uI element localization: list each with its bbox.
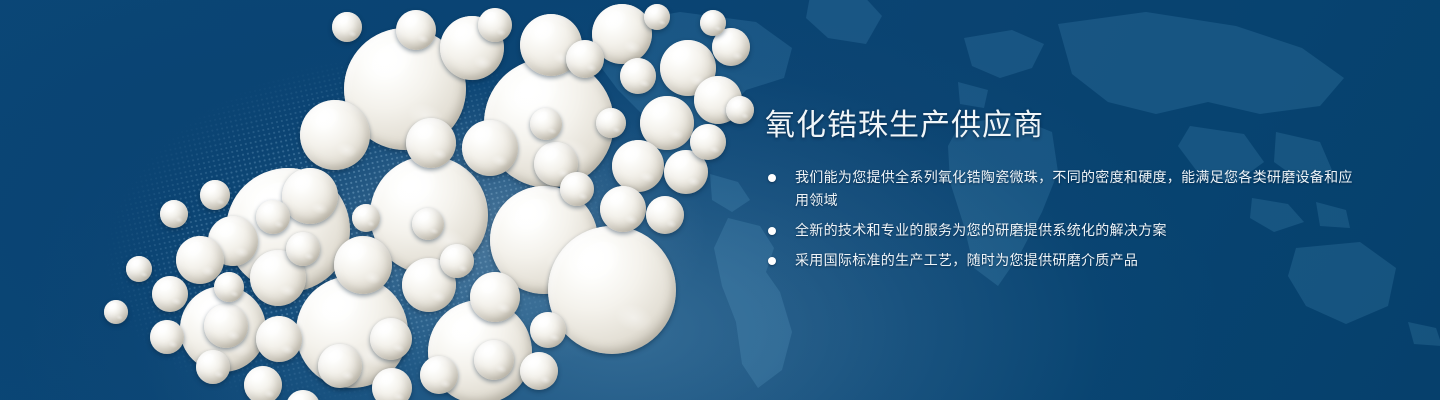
bullet-dot-icon [768, 257, 776, 265]
bullet-dot-icon [768, 227, 776, 235]
list-item: 全新的技术和专业的服务为您的研磨提供系统化的解决方案 [765, 219, 1365, 242]
list-item-label: 全新的技术和专业的服务为您的研磨提供系统化的解决方案 [795, 222, 1167, 238]
banner-copy: 氧化锆珠生产供应商 我们能为您提供全系列氧化锆陶瓷微珠，不同的密度和硬度，能满足… [765, 108, 1365, 279]
bullet-dot-icon [768, 174, 776, 182]
hero-banner: 氧化锆珠生产供应商 我们能为您提供全系列氧化锆陶瓷微珠，不同的密度和硬度，能满足… [0, 0, 1440, 400]
feature-list: 我们能为您提供全系列氧化锆陶瓷微珠，不同的密度和硬度，能满足您各类研磨设备和应用… [765, 166, 1365, 272]
list-item: 我们能为您提供全系列氧化锆陶瓷微珠，不同的密度和硬度，能满足您各类研磨设备和应用… [765, 166, 1365, 212]
list-item-label: 我们能为您提供全系列氧化锆陶瓷微珠，不同的密度和硬度，能满足您各类研磨设备和应用… [795, 169, 1353, 208]
page-title: 氧化锆珠生产供应商 [765, 108, 1365, 144]
list-item-label: 采用国际标准的生产工艺，随时为您提供研磨介质产品 [795, 252, 1138, 268]
list-item: 采用国际标准的生产工艺，随时为您提供研磨介质产品 [765, 249, 1365, 272]
